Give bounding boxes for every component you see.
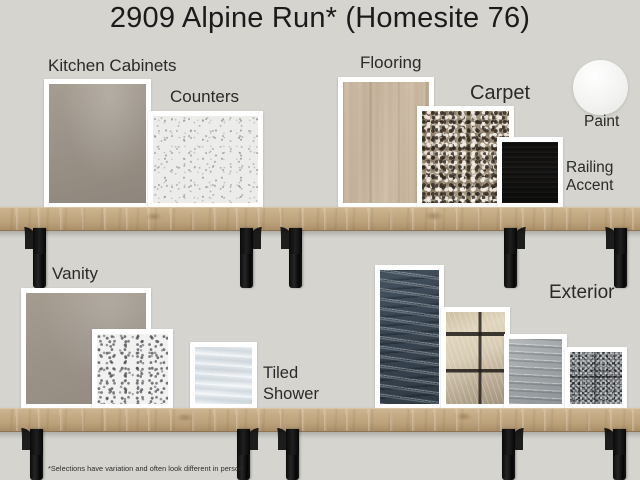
shelf-lower-plank <box>0 408 640 432</box>
shelf-bracket <box>30 429 43 480</box>
label-counters: Counters <box>170 88 239 106</box>
shelf-bracket <box>614 228 627 288</box>
kitchen-cabinets-material <box>49 84 146 203</box>
shelf-bracket <box>502 429 515 480</box>
swatch-railing-accent[interactable] <box>497 137 563 208</box>
shelf-bracket <box>240 228 253 288</box>
swatch-roof-shingle[interactable] <box>565 347 627 409</box>
label-vanity: Vanity <box>52 265 98 283</box>
label-tiled-shower-line1: Tiled <box>263 365 298 383</box>
label-carpet: Carpet <box>470 83 530 105</box>
exterior-stone-material <box>446 312 505 404</box>
swatch-kitchen-cabinets[interactable] <box>44 79 151 208</box>
carpet-material <box>422 111 509 203</box>
swatch-counters[interactable] <box>148 111 263 208</box>
shelf-upper-plank <box>0 207 640 231</box>
shelf-lower <box>0 408 640 430</box>
counters-material <box>153 116 258 203</box>
label-flooring: Flooring <box>360 54 421 72</box>
shelf-bracket <box>504 228 517 288</box>
swatch-exterior-stone[interactable] <box>441 307 510 409</box>
tiled-shower-material <box>195 347 252 404</box>
exterior-accent-siding-material <box>509 339 562 404</box>
wood-knot <box>146 212 162 221</box>
swatch-tiled-shower[interactable] <box>190 342 257 409</box>
label-paint: Paint <box>584 114 619 131</box>
vanity-top-material <box>97 334 168 404</box>
exterior-siding-material <box>380 270 439 404</box>
wood-knot <box>176 413 194 422</box>
label-railing-accent-line2: Accent <box>566 178 613 195</box>
swatch-paint[interactable] <box>573 60 628 115</box>
label-tiled-shower-line2: Shower <box>263 386 319 404</box>
shelf-upper <box>0 207 640 229</box>
swatch-exterior-accent-siding[interactable] <box>504 334 567 409</box>
shelf-bracket <box>286 429 299 480</box>
page-title: 2909 Alpine Run* (Homesite 76) <box>0 2 640 35</box>
swatch-vanity-top[interactable] <box>92 329 173 409</box>
shelf-bracket <box>613 429 626 480</box>
label-railing-accent-line1: Railing <box>566 160 613 177</box>
footnote-disclaimer: *Selections have variation and often loo… <box>48 464 243 473</box>
material-selection-board: 2909 Alpine Run* (Homesite 76) Kitchen C… <box>0 0 640 480</box>
wood-knot <box>456 412 472 421</box>
shelf-bracket <box>289 228 302 288</box>
railing-accent-material <box>502 142 558 203</box>
shelf-bracket <box>33 228 46 288</box>
swatch-exterior-siding[interactable] <box>375 265 444 409</box>
roof-shingle-material <box>570 352 622 404</box>
wood-knot <box>424 211 444 221</box>
label-exterior: Exterior <box>549 283 614 304</box>
label-kitchen-cabinets: Kitchen Cabinets <box>48 57 177 75</box>
